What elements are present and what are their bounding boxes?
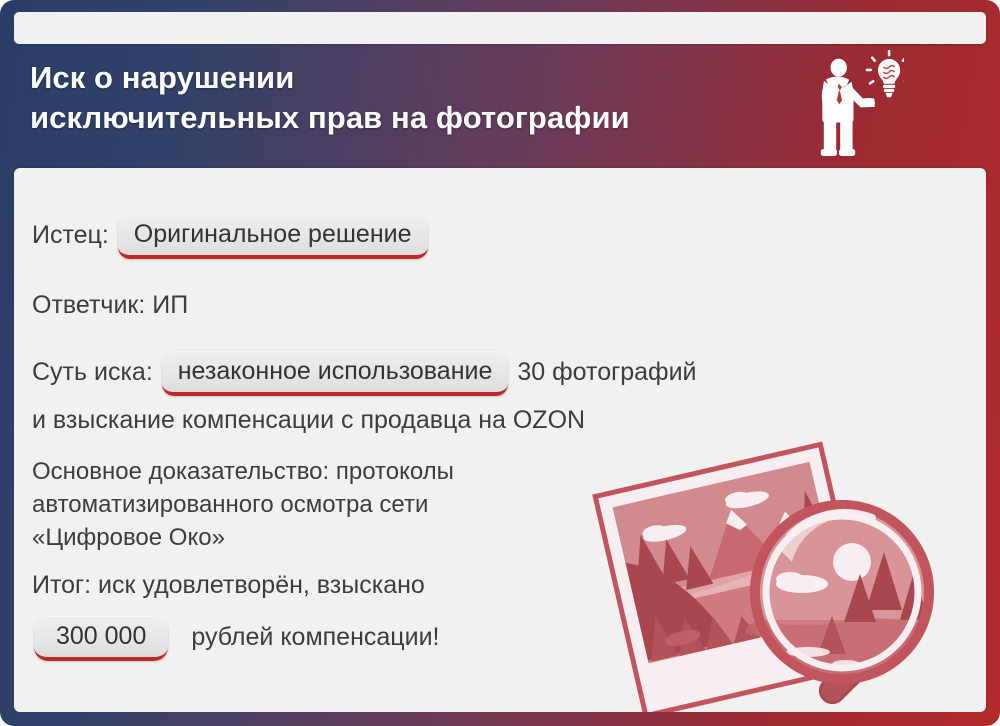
businessman-with-lightbulb-icon bbox=[794, 50, 904, 162]
top-accent-bar bbox=[14, 12, 986, 44]
claim-label: Суть иска: bbox=[32, 358, 153, 386]
header-band: Иск о нарушении исключительных прав на ф… bbox=[0, 44, 1000, 164]
result-amount-row: 300 000 рублей компенсации! bbox=[32, 616, 440, 661]
result-suffix: рублей компенсации! bbox=[191, 623, 439, 651]
content-panel: Истец: Оригинальное решение Ответчик: ИП… bbox=[14, 168, 986, 712]
plaintiff-label: Истец: bbox=[32, 221, 109, 249]
claim-second-line: и взыскание компенсации с продавца на OZ… bbox=[32, 403, 585, 437]
compensation-amount-chip[interactable]: 300 000 bbox=[34, 616, 168, 661]
claim-chip[interactable]: незаконное использование bbox=[162, 351, 509, 396]
claim-suffix: 30 фотографий bbox=[517, 358, 696, 386]
defendant-row: Ответчик: ИП bbox=[32, 288, 188, 322]
plaintiff-chip[interactable]: Оригинальное решение bbox=[118, 214, 428, 259]
result-text: Итог: иск удовлетворён, взыскано bbox=[32, 568, 425, 602]
photo-with-magnifier-illustration bbox=[584, 424, 986, 712]
evidence-block: Основное доказательство: протоколы автом… bbox=[32, 455, 454, 554]
plaintiff-row: Истец: Оригинальное решение bbox=[32, 214, 430, 259]
page-title: Иск о нарушении исключительных прав на ф… bbox=[30, 58, 770, 139]
infographic-card: Иск о нарушении исключительных прав на ф… bbox=[0, 0, 1000, 726]
claim-row: Суть иска: незаконное использование 30 ф… bbox=[32, 351, 697, 396]
